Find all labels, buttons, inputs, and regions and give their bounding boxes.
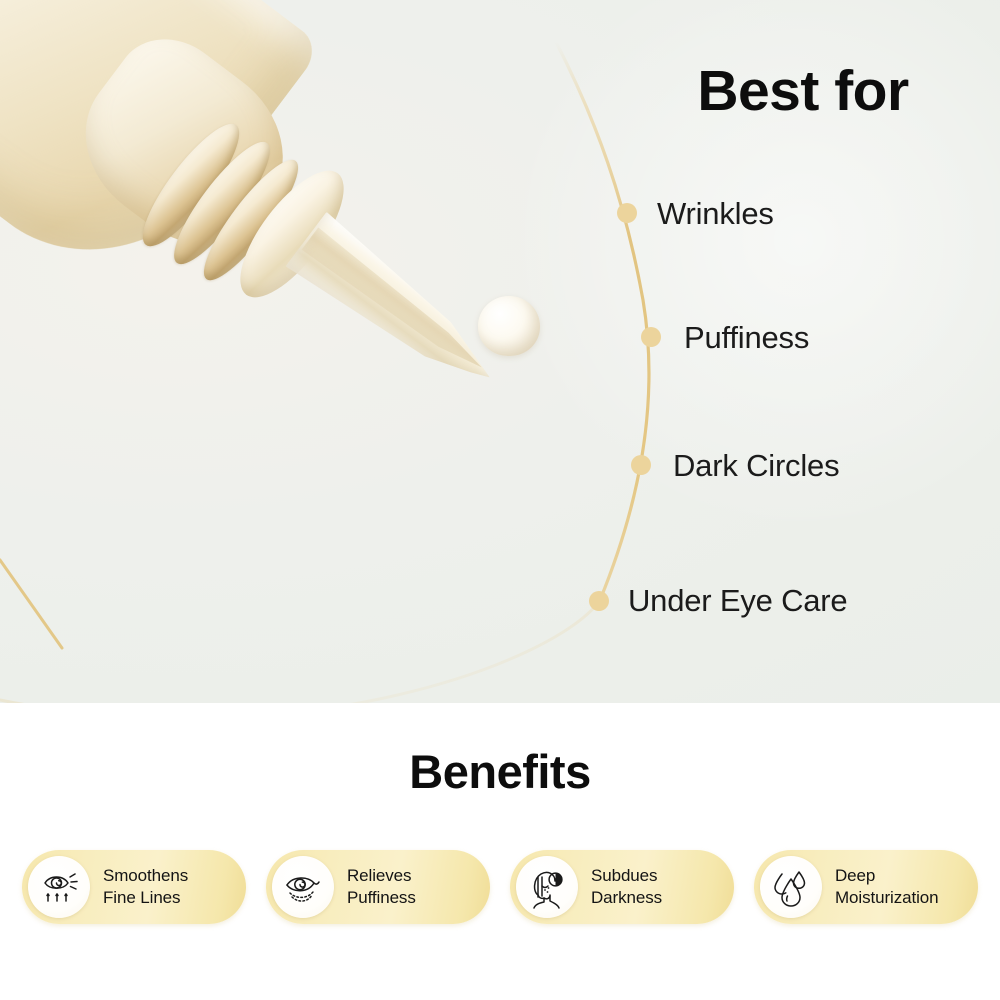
bullet-dot-puffiness [641, 327, 661, 347]
benefit-pill-label: Deep Moisturization [835, 865, 938, 909]
bullet-dot-under-eye-care [589, 591, 609, 611]
best-for-item-dark-circles: Dark Circles [673, 450, 839, 481]
benefit-label-line1: Smoothens [103, 866, 188, 885]
benefit-pill-label: Subdues Darkness [591, 865, 662, 909]
best-for-item-under-eye-care: Under Eye Care [628, 585, 847, 616]
face-contrast-icon [516, 856, 578, 918]
benefits-pill-row: Smoothens Fine Lines Relieves Puffiness [22, 850, 978, 924]
eye-under-bags-icon [272, 856, 334, 918]
water-droplets-icon [760, 856, 822, 918]
benefit-label-line2: Puffiness [347, 887, 416, 909]
benefit-pill-smoothens-fine-lines[interactable]: Smoothens Fine Lines [22, 850, 246, 924]
benefit-pill-subdues-darkness[interactable]: Subdues Darkness [510, 850, 734, 924]
benefit-pill-relieves-puffiness[interactable]: Relieves Puffiness [266, 850, 490, 924]
serum-droplet [478, 296, 540, 356]
benefit-label-line2: Fine Lines [103, 887, 188, 909]
best-for-item-wrinkles: Wrinkles [657, 198, 774, 229]
benefit-label-line1: Subdues [591, 866, 657, 885]
product-bottle: fl.oz. 30 ml [0, 0, 630, 570]
eye-with-up-arrows-icon [28, 856, 90, 918]
best-for-title: Best for [608, 60, 998, 123]
benefit-label-line2: Moisturization [835, 887, 938, 909]
benefit-pill-deep-moisturization[interactable]: Deep Moisturization [754, 850, 978, 924]
benefit-label-line1: Deep [835, 866, 875, 885]
benefit-pill-label: Relieves Puffiness [347, 865, 416, 909]
benefit-label-line2: Darkness [591, 887, 662, 909]
best-for-item-puffiness: Puffiness [684, 322, 809, 353]
product-image: fl.oz. 30 ml [0, 0, 630, 570]
hero-section: fl.oz. 30 ml Best for Wrinkles Puffine [0, 0, 1000, 703]
benefit-label-line1: Relieves [347, 866, 411, 885]
benefits-title: Benefits [0, 748, 1000, 795]
bullet-dot-dark-circles [631, 455, 651, 475]
benefit-pill-label: Smoothens Fine Lines [103, 865, 188, 909]
